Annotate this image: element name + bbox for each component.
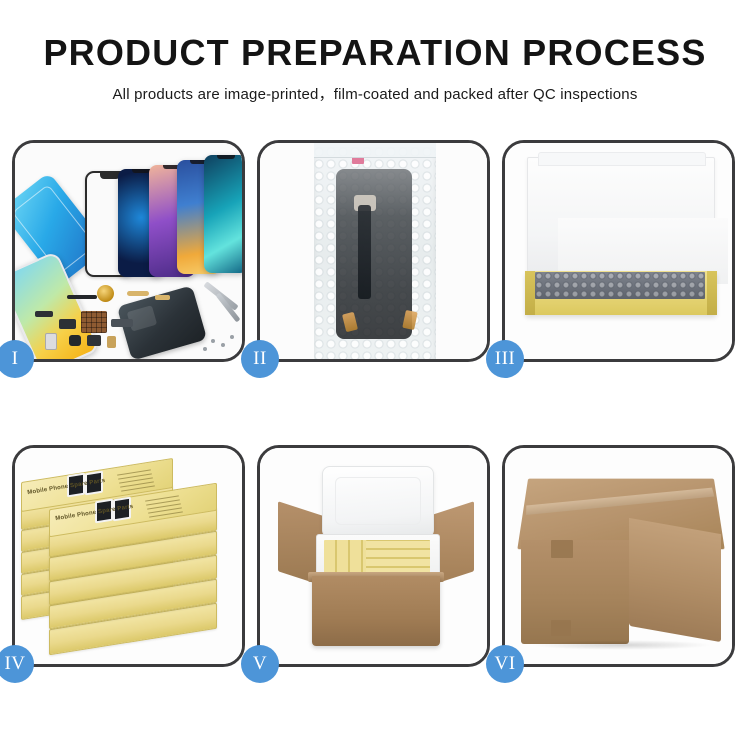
process-step-6[interactable]: VI bbox=[502, 445, 735, 667]
page-title: PRODUCT PREPARATION PROCESS bbox=[0, 34, 750, 72]
bubble-wrapped-contents bbox=[535, 272, 705, 299]
step-badge-3: III bbox=[486, 340, 524, 378]
gold-connector-right bbox=[402, 310, 417, 330]
process-step-grid: I II III bbox=[12, 140, 738, 667]
bubble-wrap-photo bbox=[260, 143, 487, 359]
wireless-coil-part bbox=[97, 285, 114, 302]
process-step-1[interactable]: I bbox=[12, 140, 245, 362]
carton-front-panel bbox=[312, 576, 440, 646]
product-lineup-photo bbox=[15, 143, 242, 359]
process-step-4[interactable]: Mobile Phone Spare Parts Mobile Phone Sp… bbox=[12, 445, 245, 667]
foam-case-lid bbox=[322, 466, 434, 538]
step-badge-6: VI bbox=[486, 645, 524, 683]
page-subtitle: All products are image-printed，film-coat… bbox=[0, 83, 750, 104]
boxes-stacked-photo: Mobile Phone Spare Parts Mobile Phone Sp… bbox=[15, 448, 242, 664]
bag-seal bbox=[314, 143, 436, 158]
carton-side-panel bbox=[629, 518, 721, 642]
process-step-5[interactable]: V bbox=[257, 445, 490, 667]
process-step-2[interactable]: II bbox=[257, 140, 490, 362]
phone-display-teal bbox=[204, 155, 242, 273]
inner-box-photo bbox=[505, 143, 732, 359]
carton-front-face bbox=[521, 540, 629, 644]
step-badge-5: V bbox=[241, 645, 279, 683]
connector-grid-part bbox=[81, 311, 107, 333]
white-foam-lid bbox=[527, 157, 715, 287]
foam-carton-photo bbox=[260, 448, 487, 664]
step-badge-2: II bbox=[241, 340, 279, 378]
pink-label-tag bbox=[352, 157, 364, 164]
page-header: PRODUCT PREPARATION PROCESS All products… bbox=[0, 0, 750, 104]
sealed-carton-photo bbox=[505, 448, 732, 664]
step-badge-1: I bbox=[0, 340, 34, 378]
process-step-3[interactable]: III bbox=[502, 140, 735, 362]
flex-cable bbox=[358, 205, 371, 299]
step-badge-4: IV bbox=[0, 645, 34, 683]
bubble-wrap-bag bbox=[314, 147, 436, 359]
